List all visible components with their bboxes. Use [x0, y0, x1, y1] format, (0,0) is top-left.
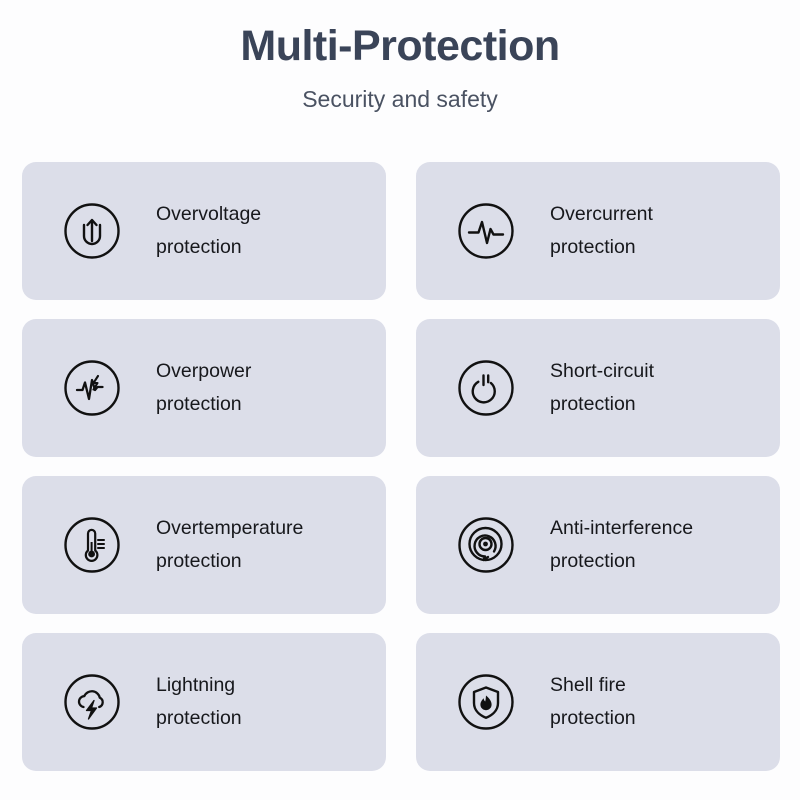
feature-label-line2: protection: [550, 231, 653, 264]
feature-label-line1: Shell fire: [550, 669, 636, 702]
multi-protection-page: Multi-Protection Security and safety Ove…: [0, 0, 800, 800]
feature-label-line2: protection: [550, 388, 654, 421]
feature-label-line1: Lightning: [156, 669, 242, 702]
feature-card-shell-fire[interactable]: Shell fire protection: [416, 633, 780, 771]
feature-label-line1: Overpower: [156, 355, 251, 388]
feature-label-line2: protection: [156, 231, 261, 264]
feature-label-line2: protection: [156, 545, 303, 578]
feature-label-line2: protection: [156, 388, 251, 421]
feature-label-line1: Overtemperature: [156, 512, 303, 545]
overtemperature-icon: [62, 515, 122, 575]
feature-card-label: Short-circuit protection: [550, 355, 654, 421]
feature-card-overcurrent[interactable]: Overcurrent protection: [416, 162, 780, 300]
feature-card-short-circuit[interactable]: Short-circuit protection: [416, 319, 780, 457]
shell-fire-icon: [456, 672, 516, 732]
overcurrent-icon: [456, 201, 516, 261]
feature-card-label: Overvoltage protection: [156, 198, 261, 264]
feature-card-lightning[interactable]: Lightning protection: [22, 633, 386, 771]
feature-card-label: Lightning protection: [156, 669, 242, 735]
feature-card-label: Overpower protection: [156, 355, 251, 421]
feature-card-label: Shell fire protection: [550, 669, 636, 735]
overvoltage-icon: [62, 201, 122, 261]
feature-card-overpower[interactable]: Overpower protection: [22, 319, 386, 457]
feature-label-line2: protection: [550, 545, 693, 578]
protection-feature-grid: Overvoltage protection Overcurrent prote…: [22, 162, 780, 771]
feature-label-line2: protection: [550, 702, 636, 735]
feature-card-label: Overtemperature protection: [156, 512, 303, 578]
page-header: Multi-Protection Security and safety: [0, 0, 800, 113]
overpower-icon: [62, 358, 122, 418]
short-circuit-icon: [456, 358, 516, 418]
feature-card-anti-interference[interactable]: Anti-interference protection: [416, 476, 780, 614]
feature-card-overtemperature[interactable]: Overtemperature protection: [22, 476, 386, 614]
feature-label-line2: protection: [156, 702, 242, 735]
feature-label-line1: Anti-interference: [550, 512, 693, 545]
feature-card-label: Overcurrent protection: [550, 198, 653, 264]
feature-card-label: Anti-interference protection: [550, 512, 693, 578]
lightning-icon: [62, 672, 122, 732]
feature-label-line1: Short-circuit: [550, 355, 654, 388]
feature-label-line1: Overcurrent: [550, 198, 653, 231]
feature-card-overvoltage[interactable]: Overvoltage protection: [22, 162, 386, 300]
page-title: Multi-Protection: [0, 22, 800, 70]
feature-label-line1: Overvoltage: [156, 198, 261, 231]
anti-interference-icon: [456, 515, 516, 575]
page-subtitle: Security and safety: [0, 70, 800, 113]
